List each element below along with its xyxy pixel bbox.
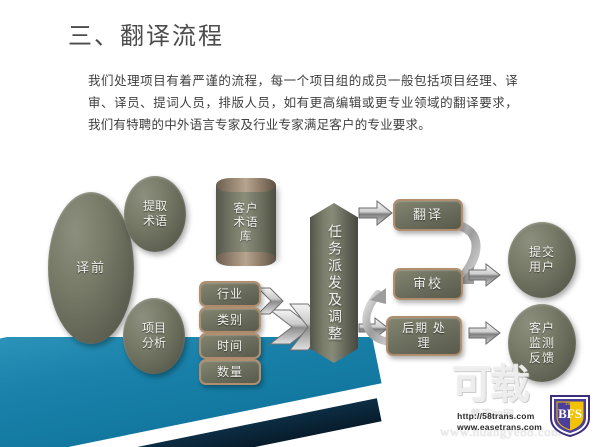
footer-url-primary[interactable]: http://58trans.com xyxy=(457,411,542,422)
node-post-processing-line1: 后期 处 xyxy=(402,321,446,335)
node-term-extraction-line2: 术语 xyxy=(143,214,167,228)
node-attribute-category[interactable]: 类别 xyxy=(199,307,261,333)
node-term-database[interactable]: 客户 术语 库 xyxy=(216,178,276,266)
footer-url-secondary[interactable]: www.easetrans.com xyxy=(457,422,542,433)
node-project-analysis-line1: 项目 xyxy=(142,321,166,335)
node-client-monitoring-line1: 客户 xyxy=(529,321,555,335)
node-attribute-time-label: 时间 xyxy=(217,339,243,354)
node-review-label: 审校 xyxy=(413,277,443,292)
node-submit-to-user-line1: 提交 xyxy=(529,245,555,259)
cylinder-top-cap xyxy=(216,178,276,192)
node-attribute-quantity[interactable]: 数量 xyxy=(199,359,261,385)
node-project-analysis-line2: 分析 xyxy=(142,336,166,350)
node-term-database-line2: 术语 xyxy=(234,215,259,229)
page-title: 三、翻译流程 xyxy=(68,16,224,51)
node-post-processing[interactable]: 后期 处 理 xyxy=(386,316,462,356)
arrow-post-to-monitor-icon xyxy=(468,320,502,346)
cylinder-bottom-cap xyxy=(216,252,276,266)
body-paragraph: 我们处理项目有着严谨的流程，每一个项目组的成员一般包括项目经理、译审、译员、提词… xyxy=(88,70,518,136)
node-review[interactable]: 审校 xyxy=(393,268,463,300)
node-submit-to-user[interactable]: 提交 用户 xyxy=(508,222,576,298)
node-attribute-industry-label: 行业 xyxy=(217,287,243,302)
node-term-database-line3: 库 xyxy=(240,229,253,243)
node-pre-translation-label: 译前 xyxy=(76,261,106,276)
node-project-analysis[interactable]: 项目 分析 xyxy=(123,298,185,374)
node-attribute-industry[interactable]: 行业 xyxy=(199,281,261,307)
node-translation-label: 翻译 xyxy=(413,208,443,223)
node-post-processing-line2: 理 xyxy=(417,336,430,350)
node-pre-translation[interactable]: 译前 xyxy=(48,192,134,344)
band-navy-stripe xyxy=(0,396,382,447)
node-attribute-category-label: 类别 xyxy=(217,313,243,328)
node-attribute-time[interactable]: 时间 xyxy=(199,333,261,359)
bfs-logo-icon: BFS 1997 xyxy=(548,392,592,438)
slide-canvas: 三、翻译流程 我们处理项目有着严谨的流程，每一个项目组的成员一般包括项目经理、译… xyxy=(0,0,600,447)
node-attribute-quantity-label: 数量 xyxy=(217,365,243,380)
node-submit-to-user-line2: 用户 xyxy=(529,260,555,274)
band-white-stripe xyxy=(0,387,382,447)
bfs-logo-year: 1997 xyxy=(565,401,576,406)
node-client-monitoring-line3: 反馈 xyxy=(529,351,555,365)
footer-urls: http://58trans.com www.easetrans.com xyxy=(457,411,542,433)
node-translation[interactable]: 翻译 xyxy=(393,199,463,231)
node-client-monitoring[interactable]: 客户 监测 反馈 xyxy=(508,304,576,382)
node-task-dispatch-label: 任务派发及调整 xyxy=(324,224,344,343)
node-client-monitoring-line2: 监测 xyxy=(529,336,555,350)
arrow-review-to-submit-icon xyxy=(468,262,502,288)
arrow-dispatch-to-translate-icon xyxy=(358,199,394,227)
node-task-dispatch[interactable]: 任务派发及调整 xyxy=(310,203,358,363)
bfs-logo-text: BFS xyxy=(558,406,582,421)
node-term-database-line1: 客户 xyxy=(234,201,259,215)
node-term-extraction-line1: 提取 xyxy=(143,199,167,213)
node-term-extraction[interactable]: 提取 术语 xyxy=(124,176,186,252)
